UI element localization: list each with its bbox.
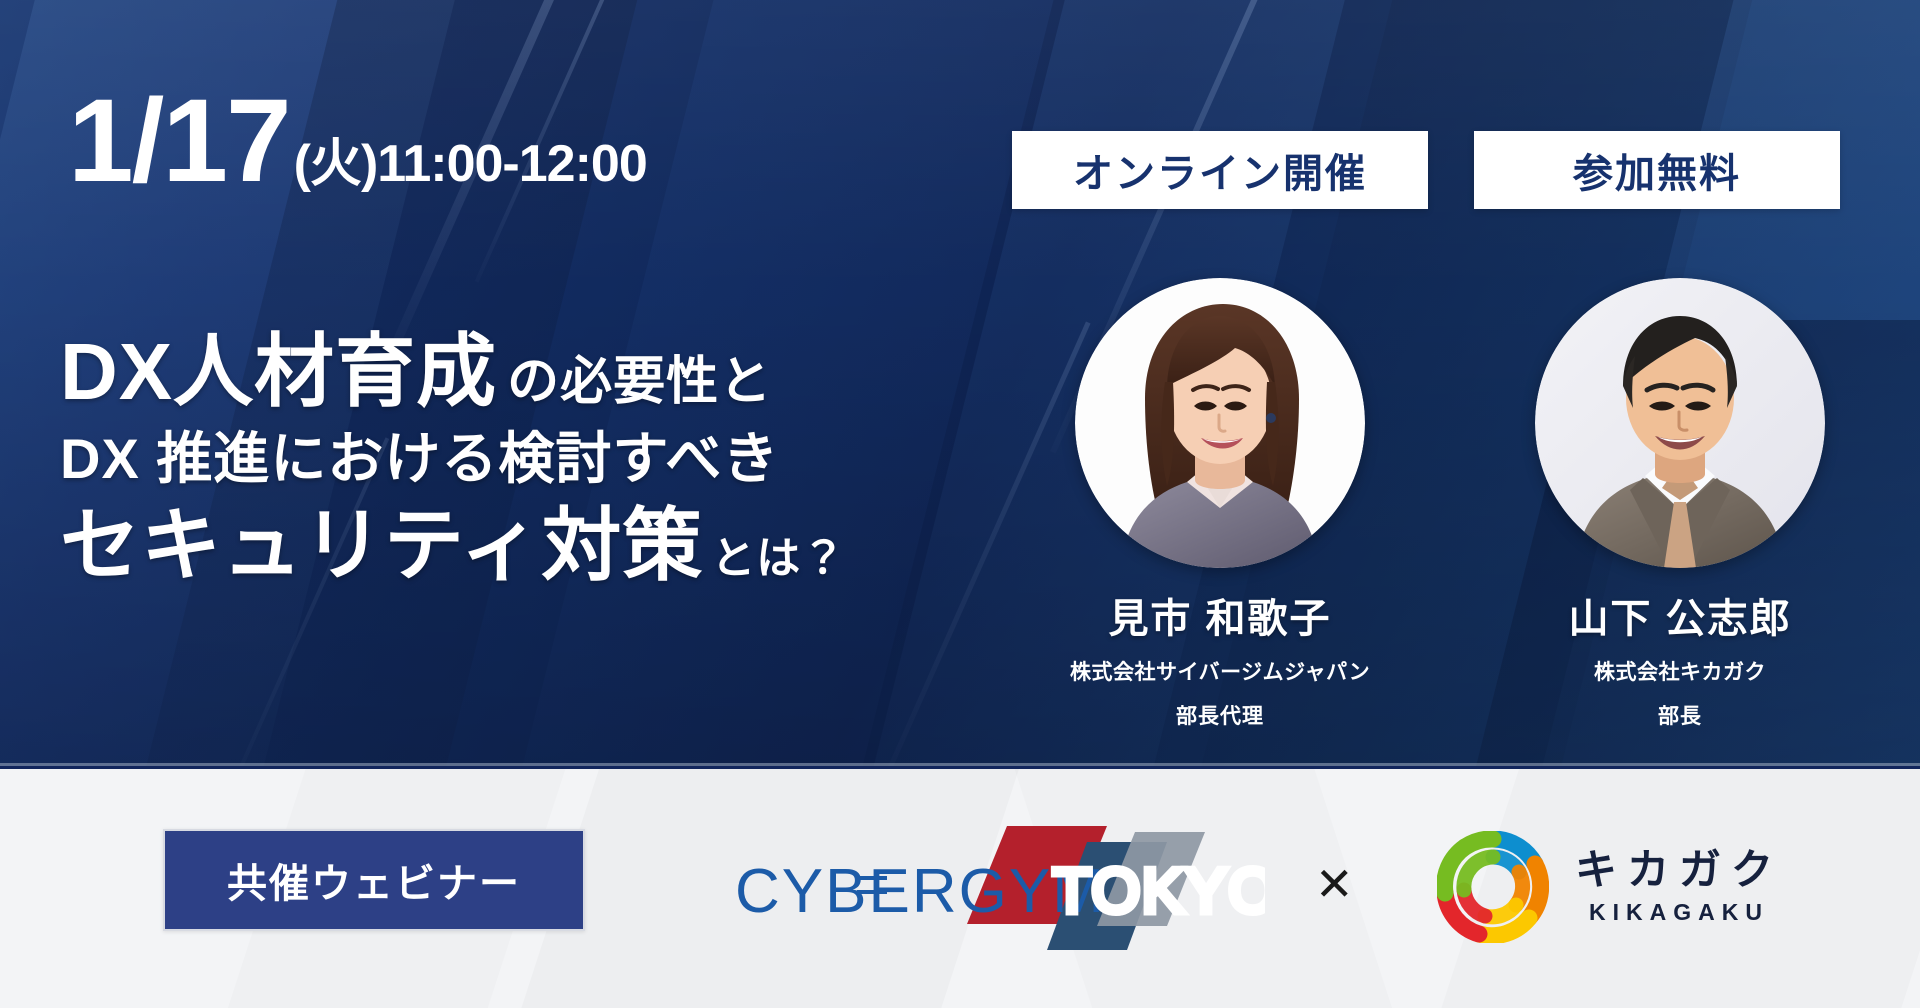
- speaker-1-title: 部長代理: [1070, 700, 1370, 730]
- cohost-badge: 共催ウェビナー: [163, 829, 585, 931]
- event-date-time: (火)11:00-12:00: [294, 138, 647, 190]
- headline-rest-1: の必要性と: [507, 355, 772, 410]
- speaker-2-company: 株式会社キカガク: [1530, 656, 1830, 686]
- kikagaku-wordmark-en: KIKAGAKU: [1589, 899, 1769, 926]
- speaker-1-company: 株式会社サイバージムジャパン: [1070, 656, 1370, 686]
- cybergym-tokyo-logo: CYBERGYM TOKYO TOKYO: [735, 820, 1265, 950]
- webinar-banner: 1/17 (火)11:00-12:00 オンライン開催 参加無料 DX人材育成 …: [0, 0, 1920, 1008]
- cybergym-wordmark-text: CYBERGYM: [735, 857, 1106, 926]
- headline-rest-3: とは？: [711, 536, 846, 583]
- headline: DX人材育成 の必要性と DX 推進における検討すべき セキュリティ対策 とは？: [60, 330, 846, 589]
- headline-line-1: DX人材育成 の必要性と: [60, 330, 846, 415]
- kikagaku-swirl-icon: [1437, 831, 1549, 943]
- background-streak: [874, 321, 1090, 766]
- headline-line-3: セキュリティ対策 とは？: [60, 504, 846, 589]
- event-date-day: 1/17: [68, 82, 290, 200]
- headline-line-2: DX 推進における検討すべき: [60, 429, 846, 488]
- kikagaku-wordmark-jp: キカガク: [1575, 848, 1783, 892]
- badge-online: オンライン開催: [1012, 131, 1428, 209]
- speaker-card-2: 山下 公志郎 株式会社キカガク 部長: [1530, 278, 1830, 730]
- headline-emphasis-1: DX人材育成: [60, 330, 497, 415]
- speaker-2-avatar: [1535, 278, 1825, 568]
- headline-text-2: DX 推進における検討すべき: [60, 429, 779, 488]
- hero-divider: [0, 763, 1920, 766]
- kikagaku-logo: キカガク KIKAGAKU: [1437, 827, 1837, 947]
- logo-separator-x: ✕: [1315, 861, 1354, 907]
- headline-emphasis-3: セキュリティ対策: [60, 504, 703, 589]
- speaker-1-avatar: [1075, 278, 1365, 568]
- speaker-2-title: 部長: [1530, 700, 1830, 730]
- speaker-2-name: 山下 公志郎: [1530, 586, 1830, 644]
- kikagaku-wordmark: キカガク KIKAGAKU: [1575, 848, 1783, 925]
- svg-text:TOKYO: TOKYO: [1053, 857, 1265, 926]
- speaker-card-1: 見市 和歌子 株式会社サイバージムジャパン 部長代理: [1070, 278, 1370, 730]
- badge-free: 参加無料: [1474, 131, 1840, 209]
- speaker-1-name: 見市 和歌子: [1070, 586, 1370, 644]
- event-date-row: 1/17 (火)11:00-12:00: [68, 82, 647, 200]
